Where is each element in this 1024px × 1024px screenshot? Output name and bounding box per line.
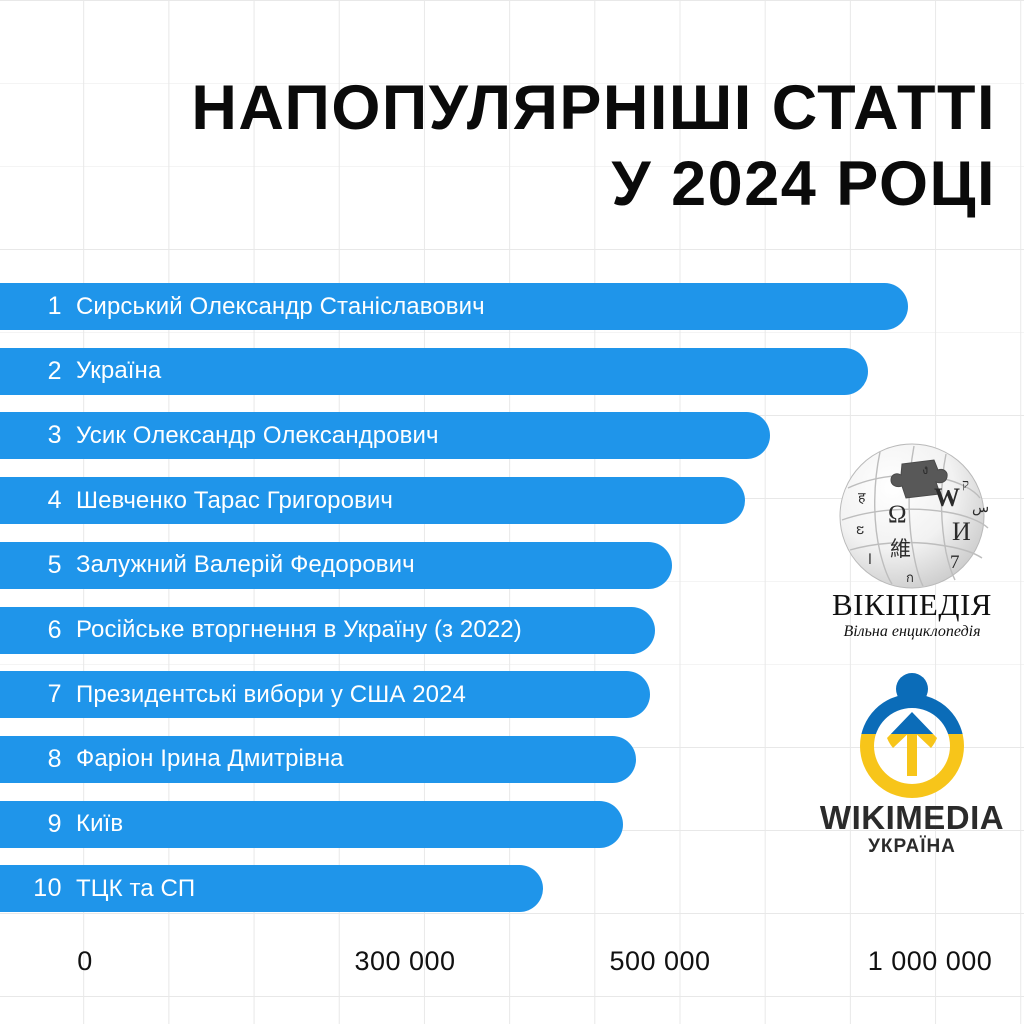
bar-rank: 5 (16, 542, 62, 589)
bar-rank: 10 (16, 865, 62, 912)
bar-fill: 1Сирський Олександр Станіславович (0, 283, 908, 330)
title-line-1: НАПОПУЛЯРНІШІ СТАТТІ (0, 70, 996, 146)
svg-text:И: И (952, 517, 971, 546)
bar-rank: 8 (16, 736, 62, 783)
wikipedia-wordmark-text: ВІКІПЕДІЯ (832, 587, 992, 622)
bar-rank: 4 (16, 477, 62, 524)
svg-text:س: س (972, 501, 989, 516)
bar-fill: 8Фаріон Ірина Дмитрівна (0, 736, 636, 783)
svg-text:ק: ק (962, 476, 969, 491)
wikipedia-wordmark: ВІКІПЕДІЯ (812, 588, 1012, 622)
bar-fill: 10ТЦК та СП (0, 865, 543, 912)
bar-fill: 5Залужний Валерій Федорович (0, 542, 672, 589)
wikimedia-wordmark: WIKIMEDIA (806, 800, 1018, 836)
x-axis: 0300 000500 0001 000 000 (0, 946, 1024, 988)
infographic-canvas: НАПОПУЛЯРНІШІ СТАТТІ У 2024 РОЦІ 1Сирськ… (0, 0, 1024, 1024)
bar-fill: 2Україна (0, 348, 868, 395)
title-line-2: У 2024 РОЦІ (0, 146, 996, 222)
axis-tick-label: 300 000 (354, 946, 455, 977)
bar-row[interactable]: 4Шевченко Тарас Григорович (0, 477, 745, 524)
bar-label: Фаріон Ірина Дмитрівна (76, 736, 344, 783)
svg-text:W: W (934, 483, 960, 512)
svg-text:ا: ا (868, 553, 872, 568)
axis-tick-label: 500 000 (609, 946, 710, 977)
wikimedia-ukraine-logo: WIKIMEDIA УКРАЇНА (806, 672, 1018, 858)
bar-row[interactable]: 5Залужний Валерій Федорович (0, 542, 672, 589)
bar-row[interactable]: 8Фаріон Ірина Дмитрівна (0, 736, 636, 783)
bar-fill: 4Шевченко Тарас Григорович (0, 477, 745, 524)
bar-label: Київ (76, 801, 123, 848)
bar-rank: 3 (16, 412, 62, 459)
svg-text:ຬ: ຬ (856, 523, 864, 538)
bar-fill: 9Київ (0, 801, 623, 848)
wikipedia-globe-icon: Ω W И 維 7 ह ຬ ا ง ק س ก (830, 440, 994, 592)
bar-row[interactable]: 1Сирський Олександр Станіславович (0, 283, 908, 330)
page-title: НАПОПУЛЯРНІШІ СТАТТІ У 2024 РОЦІ (0, 70, 996, 222)
bar-row[interactable]: 10ТЦК та СП (0, 865, 543, 912)
bar-row[interactable]: 6Російське вторгнення в Україну (з 2022) (0, 607, 655, 654)
bar-row[interactable]: 9Київ (0, 801, 623, 848)
wikimedia-puzzle-globe-icon (836, 672, 988, 798)
svg-text:Ω: Ω (888, 501, 907, 528)
bar-rank: 1 (16, 283, 62, 330)
bar-row[interactable]: 3Усик Олександр Олександрович (0, 412, 770, 459)
wikipedia-logo: Ω W И 維 7 ह ຬ ا ง ק س ก ВІКІПЕДІЯ Вільна… (812, 440, 1012, 642)
wikipedia-tagline: Вільна енциклопедія (812, 622, 1012, 642)
bar-label: Російське вторгнення в Україну (з 2022) (76, 607, 522, 654)
bar-rank: 7 (16, 671, 62, 718)
bar-row[interactable]: 7Президентські вибори у США 2024 (0, 671, 650, 718)
bar-label: Президентські вибори у США 2024 (76, 671, 466, 718)
bar-label: Шевченко Тарас Григорович (76, 477, 393, 524)
bar-fill: 6Російське вторгнення в Україну (з 2022) (0, 607, 655, 654)
bar-rank: 2 (16, 348, 62, 395)
bar-fill: 7Президентські вибори у США 2024 (0, 671, 650, 718)
svg-text:ง: ง (922, 462, 928, 477)
bar-rank: 6 (16, 607, 62, 654)
bar-label: Сирський Олександр Станіславович (76, 283, 485, 330)
axis-tick-label: 0 (77, 946, 93, 977)
bar-label: Україна (76, 348, 161, 395)
svg-text:ก: ก (906, 570, 914, 585)
bar-label: ТЦК та СП (76, 865, 195, 912)
wikimedia-ukraine-subtitle: УКРАЇНА (806, 836, 1018, 858)
axis-tick-label: 1 000 000 (868, 946, 993, 977)
svg-text:ह: ह (858, 491, 866, 506)
bar-rank: 9 (16, 801, 62, 848)
bar-fill: 3Усик Олександр Олександрович (0, 412, 770, 459)
bar-label: Усик Олександр Олександрович (76, 412, 439, 459)
svg-text:7: 7 (950, 552, 960, 573)
svg-text:維: 維 (890, 537, 911, 561)
bar-label: Залужний Валерій Федорович (76, 542, 415, 589)
bar-row[interactable]: 2Україна (0, 348, 868, 395)
